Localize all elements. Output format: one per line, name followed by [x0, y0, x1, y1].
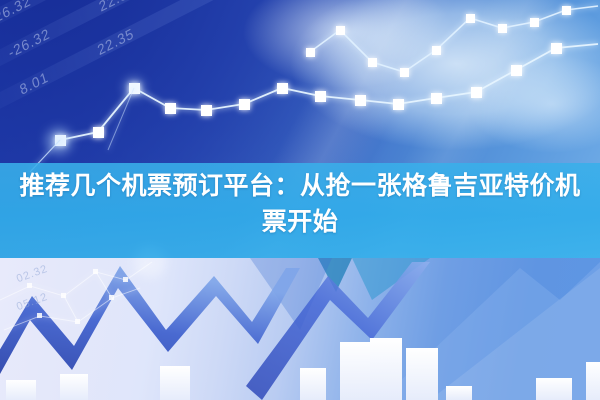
title-line-1: 推荐几个机票预订平台：从抢一张格鲁吉亚特价机 — [8, 168, 592, 204]
page-title: 推荐几个机票预订平台：从抢一张格鲁吉亚特价机 票开始 — [0, 168, 600, 240]
title-line-2: 票开始 — [8, 204, 592, 240]
promo-banner: -11.25 21.96 45.02 4.25 -45.02 4.36 -11.… — [0, 0, 600, 400]
